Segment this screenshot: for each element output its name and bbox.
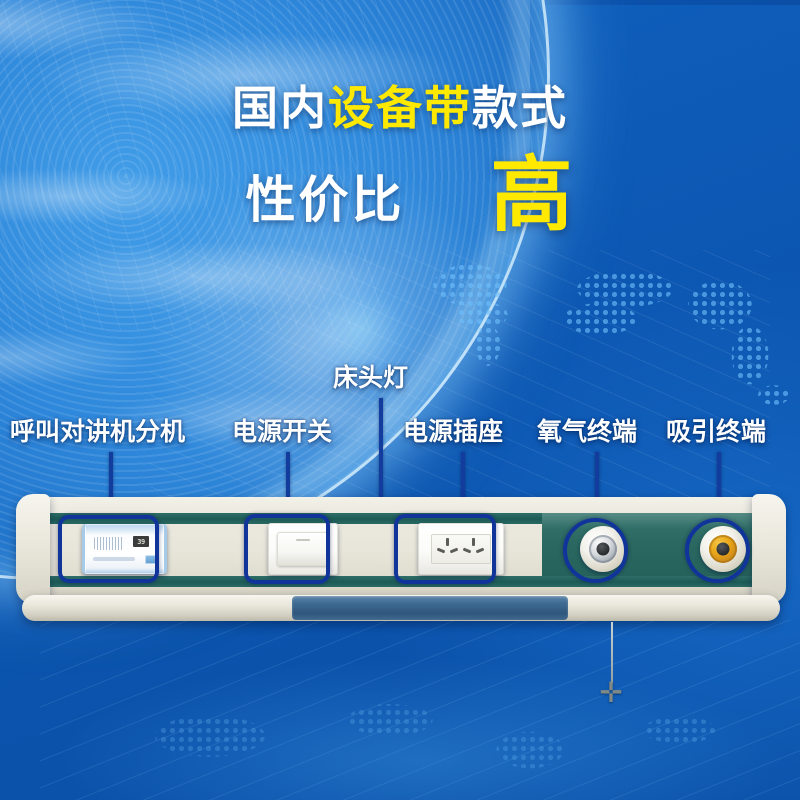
callout-suction-terminal: 吸引终端	[666, 412, 766, 448]
callout-bed-lamp: 床头灯	[333, 358, 408, 394]
panel-end-cap-left	[16, 494, 50, 604]
highlight-box-power-switch	[244, 514, 330, 584]
highlight-circle-suction	[685, 518, 750, 583]
callout-intercom: 呼叫对讲机分机	[10, 412, 185, 448]
callout-power-switch: 电源开关	[232, 412, 332, 448]
leader-line-power-socket	[461, 452, 465, 500]
cord-hook-icon: ✛	[596, 678, 626, 708]
hanging-cord	[611, 622, 613, 684]
leader-line-intercom	[109, 452, 113, 500]
callout-oxygen-terminal: 氧气终端	[537, 412, 637, 448]
highlight-box-power-socket	[394, 514, 496, 584]
highlight-box-intercom	[58, 515, 159, 583]
panel-end-cap-right	[752, 494, 786, 604]
highlight-circle-oxygen	[563, 518, 628, 583]
callout-group: 呼叫对讲机分机 电源开关 床头灯 电源插座 氧气终端 吸引终端	[0, 0, 800, 800]
panel-lower-rail-blue-section	[292, 596, 568, 620]
leader-line-power-switch	[286, 452, 290, 500]
callout-power-socket: 电源插座	[403, 412, 503, 448]
